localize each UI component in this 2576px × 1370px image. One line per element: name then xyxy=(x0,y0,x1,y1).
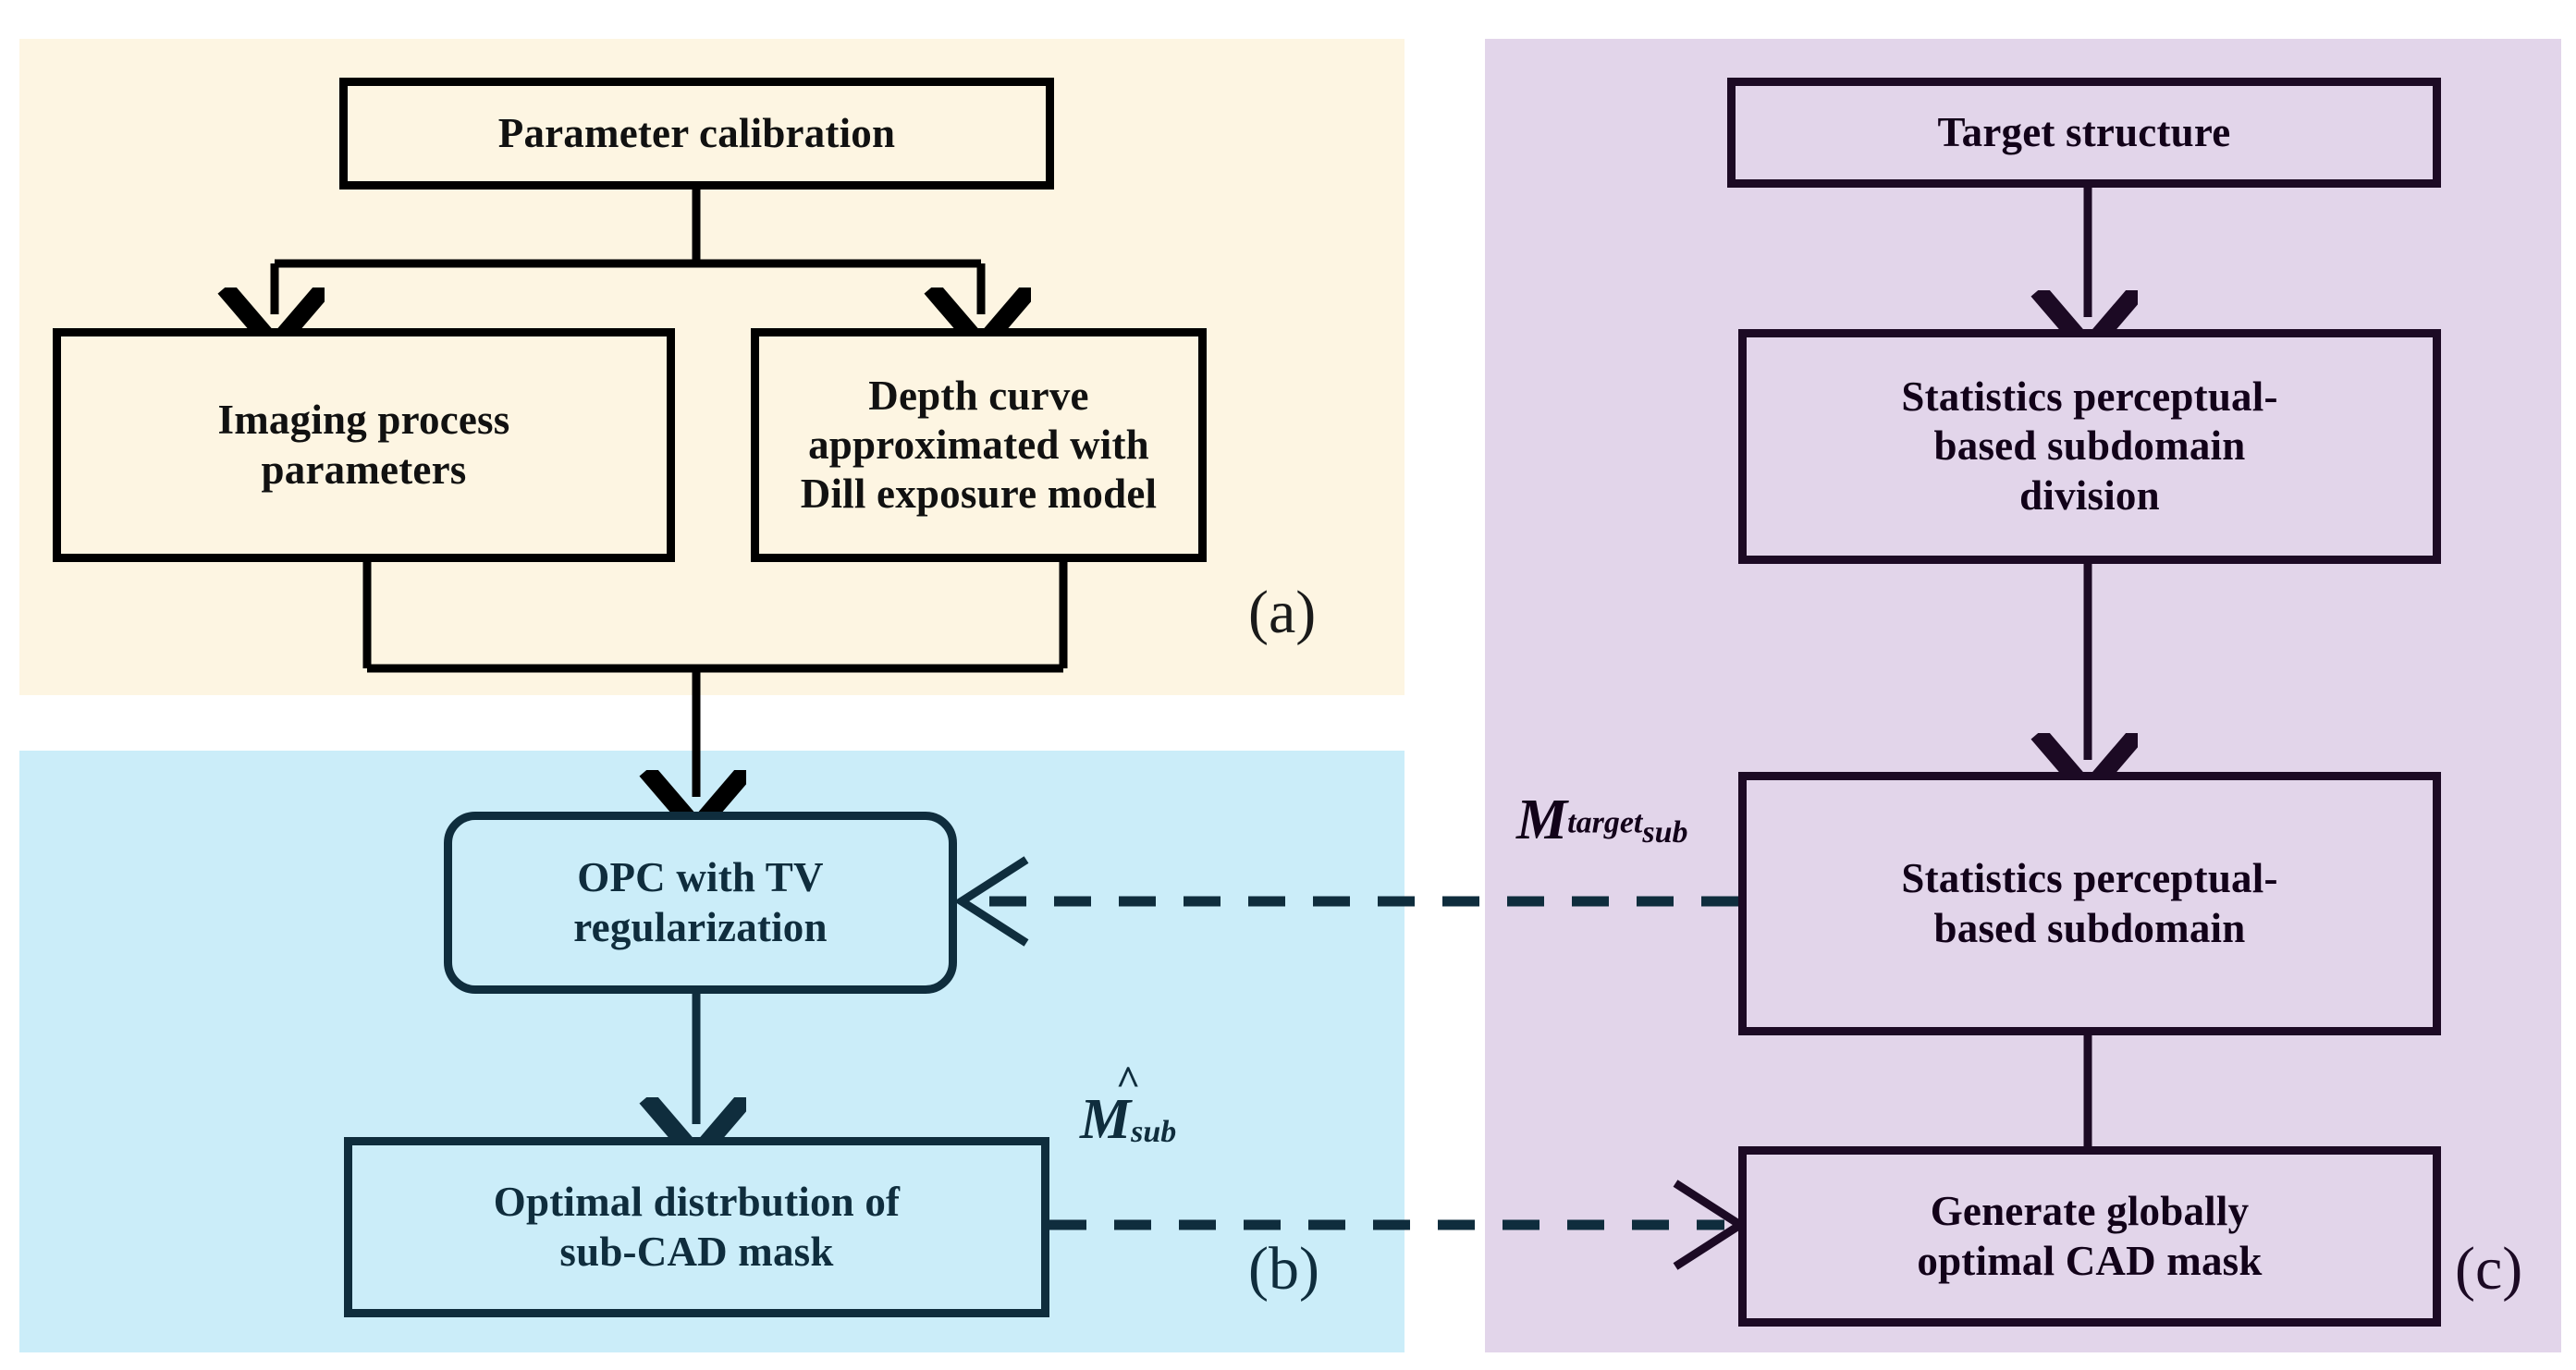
node-target-structure[interactable]: Target structure xyxy=(1727,78,2441,188)
node-optimal-distribution[interactable]: Optimal distrbution ofsub-CAD mask xyxy=(344,1137,1049,1317)
panel-a-label: (a) xyxy=(1248,582,1316,643)
m-sub-target-superscript: target xyxy=(1567,806,1642,840)
panel-c-label: (c) xyxy=(2455,1239,2522,1300)
node-subdomain-division[interactable]: Statistics perceptual-based subdomaindiv… xyxy=(1738,329,2441,564)
node-opc-tv-regularization[interactable]: OPC with TVregularization xyxy=(444,812,957,994)
m-sub-hat-subscript: sub xyxy=(1131,1115,1176,1149)
node-subdomain-label: Statistics perceptual-based subdomain xyxy=(1892,854,2287,952)
edge-label-m-sub-hat: M^sub xyxy=(1080,1087,1176,1153)
node-imaging-process-parameters[interactable]: Imaging processparameters xyxy=(53,328,675,562)
node-subdomain[interactable]: Statistics perceptual-based subdomain xyxy=(1738,772,2441,1035)
node-target-structure-label: Target structure xyxy=(1929,108,2240,157)
node-opc-tv-regularization-label: OPC with TVregularization xyxy=(564,853,836,951)
node-optimal-distribution-label: Optimal distrbution ofsub-CAD mask xyxy=(485,1178,909,1276)
m-sub-target-subscript: sub xyxy=(1642,815,1687,850)
m-sub-target-base: M xyxy=(1516,789,1567,851)
panel-b-label: (b) xyxy=(1248,1239,1319,1300)
node-parameter-calibration[interactable]: Parameter calibration xyxy=(339,78,1054,190)
node-generate-optimal-mask-label: Generate globallyoptimal CAD mask xyxy=(1907,1187,2271,1285)
m-sub-hat-accent-icon: ^ xyxy=(1116,1059,1141,1102)
flowchart-figure: Parameter calibration Imaging processpar… xyxy=(0,0,2576,1370)
edge-label-m-sub-target: Mtargetsub xyxy=(1516,788,1688,853)
node-subdomain-division-label: Statistics perceptual-based subdomaindiv… xyxy=(1892,373,2287,520)
node-imaging-process-parameters-label: Imaging processparameters xyxy=(209,396,520,494)
node-parameter-calibration-label: Parameter calibration xyxy=(489,109,904,158)
node-depth-curve[interactable]: Depth curveapproximated withDill exposur… xyxy=(751,328,1207,562)
node-depth-curve-label: Depth curveapproximated withDill exposur… xyxy=(791,372,1166,519)
node-generate-optimal-mask[interactable]: Generate globallyoptimal CAD mask xyxy=(1738,1146,2441,1327)
